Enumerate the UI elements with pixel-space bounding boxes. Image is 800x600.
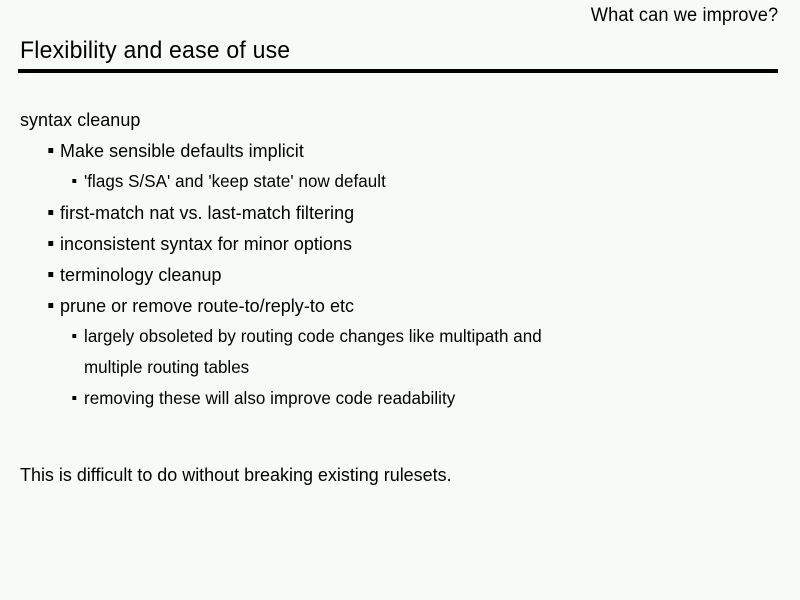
page-title: Flexibility and ease of use: [20, 36, 290, 66]
square-bullet-icon: [48, 148, 53, 153]
slide-body: syntax cleanup Make sensible defaults im…: [0, 104, 800, 490]
square-bullet-icon: [72, 334, 76, 338]
square-bullet-icon: [48, 241, 53, 246]
list-item-label: first-match nat vs. last-match filtering: [60, 202, 354, 223]
list-item: prune or remove route-to/reply-to etc: [60, 290, 778, 321]
list-item-label: terminology cleanup: [60, 264, 222, 285]
list-item: Make sensible defaults implicit: [60, 135, 778, 166]
list-item-label: removing these will also improve code re…: [84, 388, 455, 408]
slide-header: What can we improve? Flexibility and eas…: [0, 0, 800, 76]
square-bullet-icon: [48, 272, 53, 277]
list-item-label: largely obsoleted by routing code change…: [84, 326, 542, 346]
list-item: first-match nat vs. last-match filtering: [60, 197, 778, 228]
lead-line: syntax cleanup: [20, 104, 777, 135]
list-item-label: 'flags S/SA' and 'keep state' now defaul…: [84, 171, 386, 191]
square-bullet-icon: [72, 179, 76, 183]
presentation-slide: What can we improve? Flexibility and eas…: [0, 0, 800, 600]
square-bullet-icon: [72, 396, 76, 400]
list-item: removing these will also improve code re…: [84, 383, 779, 414]
square-bullet-icon: [48, 210, 53, 215]
closing-paragraph: This is difficult to do without breaking…: [20, 459, 777, 490]
list-item-label: prune or remove route-to/reply-to etc: [60, 295, 354, 316]
square-bullet-icon: [48, 303, 53, 308]
list-item: terminology cleanup: [60, 259, 778, 290]
list-item-label: inconsistent syntax for minor options: [60, 233, 352, 254]
list-item: 'flags S/SA' and 'keep state' now defaul…: [84, 166, 779, 197]
list-item-label: Make sensible defaults implicit: [60, 140, 304, 161]
slide-kicker: What can we improve?: [591, 4, 778, 28]
title-divider: [18, 69, 778, 73]
body-spacer: [0, 414, 800, 445]
list-item-continuation: multiple routing tables: [84, 352, 779, 383]
list-item: largely obsoleted by routing code change…: [84, 321, 779, 352]
list-item: inconsistent syntax for minor options: [60, 228, 778, 259]
